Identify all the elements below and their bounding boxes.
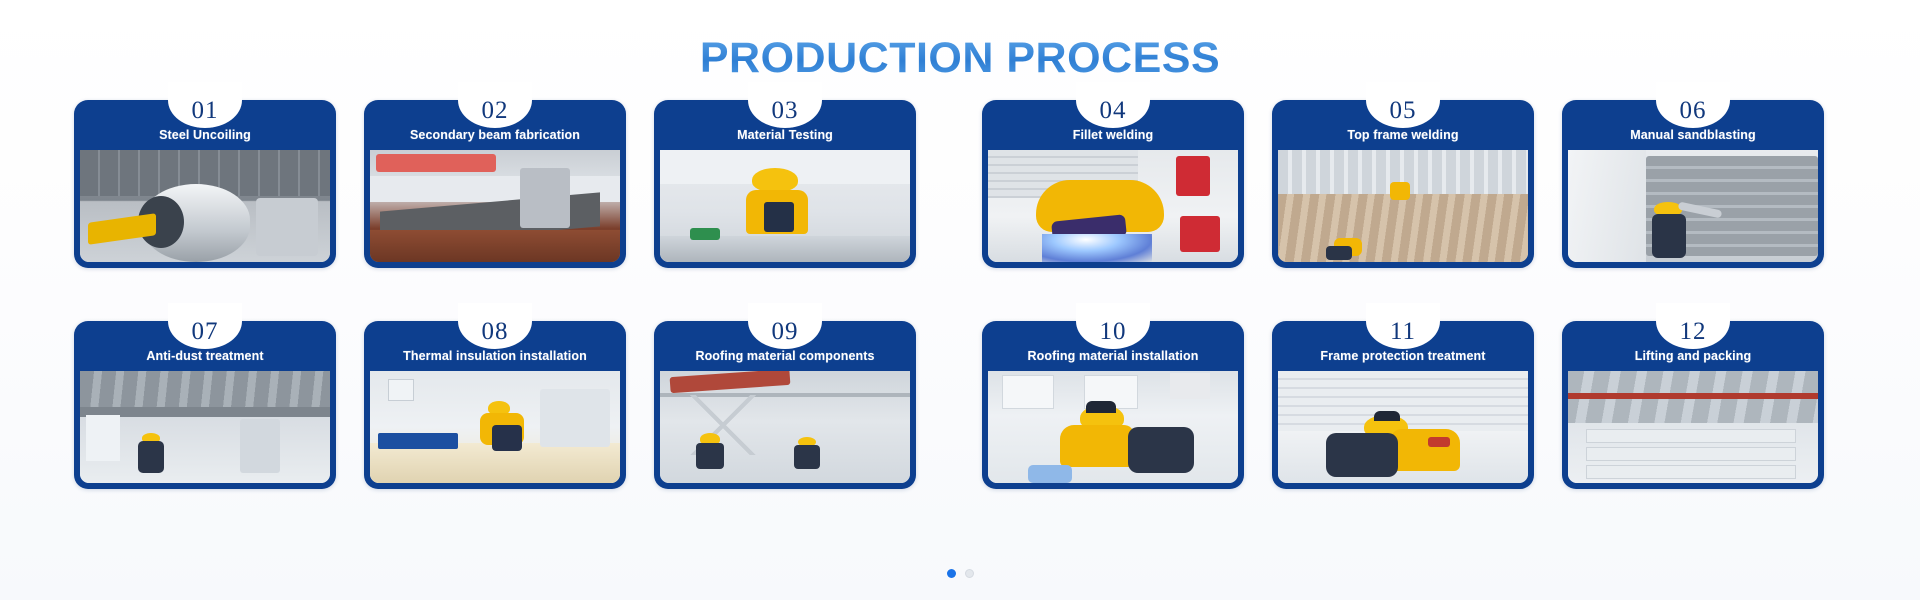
- pagination-dot-1[interactable]: [947, 569, 956, 578]
- process-card-07[interactable]: 07Anti-dust treatment: [74, 321, 336, 489]
- card-step-label: Roofing material installation: [988, 343, 1238, 369]
- card-step-label: Roofing material components: [660, 343, 910, 369]
- process-card-11[interactable]: 11Frame protection treatment: [1272, 321, 1534, 489]
- card-photo-manual-sandblasting: [1568, 150, 1818, 262]
- card-step-label: Secondary beam fabrication: [370, 122, 620, 148]
- page-title: PRODUCTION PROCESS: [700, 35, 1220, 82]
- card-photo-top-frame-welding-bay: [1278, 150, 1528, 262]
- card-step-label: Top frame welding: [1278, 122, 1528, 148]
- process-card-06[interactable]: 06Manual sandblasting: [1562, 100, 1824, 268]
- card-photo-thermal-insulation-rolls: [370, 371, 620, 483]
- production-process-section: PRODUCTION PROCESS 01Steel Uncoiling02Se…: [0, 0, 1920, 600]
- card-step-label: Frame protection treatment: [1278, 343, 1528, 369]
- process-card-02[interactable]: 02Secondary beam fabrication: [364, 100, 626, 268]
- card-photo-steel-coil-uncoiler: [80, 150, 330, 262]
- process-card-05[interactable]: 05Top frame welding: [1272, 100, 1534, 268]
- card-step-label: Anti-dust treatment: [80, 343, 330, 369]
- card-photo-worker-testing-material: [660, 150, 910, 262]
- process-card-09[interactable]: 09Roofing material components: [654, 321, 916, 489]
- process-card-08[interactable]: 08Thermal insulation installation: [364, 321, 626, 489]
- carousel-pagination[interactable]: [0, 569, 1920, 578]
- card-step-label: Steel Uncoiling: [80, 122, 330, 148]
- card-step-label: Lifting and packing: [1568, 343, 1818, 369]
- process-card-10[interactable]: 10Roofing material installation: [982, 321, 1244, 489]
- card-photo-worker-fillet-welding: [988, 150, 1238, 262]
- card-step-label: Material Testing: [660, 122, 910, 148]
- process-card-grid: 01Steel Uncoiling02Secondary beam fabric…: [74, 100, 1844, 489]
- section-header: PRODUCTION PROCESS: [0, 6, 1920, 111]
- process-card-03[interactable]: 03Material Testing: [654, 100, 916, 268]
- card-step-label: Thermal insulation installation: [370, 343, 620, 369]
- card-photo-worker-installing-roofing: [988, 371, 1238, 483]
- card-photo-beam-fabrication-line: [370, 150, 620, 262]
- pagination-dot-2[interactable]: [965, 569, 974, 578]
- card-photo-roofing-components-workshop: [660, 371, 910, 483]
- card-step-label: Manual sandblasting: [1568, 122, 1818, 148]
- card-step-label: Fillet welding: [988, 122, 1238, 148]
- card-photo-anti-dust-spraying-hall: [80, 371, 330, 483]
- card-photo-worker-frame-protection: [1278, 371, 1528, 483]
- card-photo-warehouse-lifting-packing: [1568, 371, 1818, 483]
- process-card-01[interactable]: 01Steel Uncoiling: [74, 100, 336, 268]
- process-card-12[interactable]: 12Lifting and packing: [1562, 321, 1824, 489]
- process-card-04[interactable]: 04Fillet welding: [982, 100, 1244, 268]
